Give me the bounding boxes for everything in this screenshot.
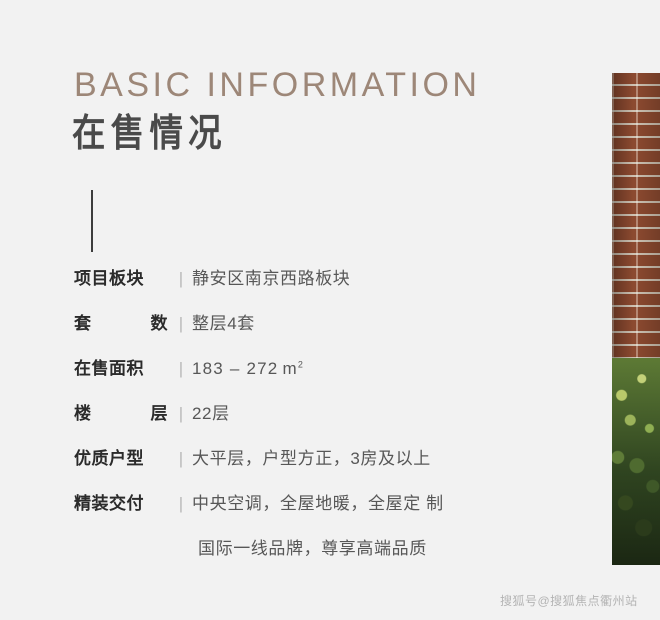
- row-label-char: 套: [74, 311, 92, 337]
- page-title-english: BASIC INFORMATION: [74, 68, 480, 104]
- page-root: BASIC INFORMATION 在售情况 项目板块 | 静安区南京西路板块 …: [0, 0, 660, 620]
- table-row: 优质户型 | 大平层，户型方正，3房及以上: [74, 446, 544, 491]
- row-label: 精装交付: [74, 491, 170, 517]
- row-value-number: 183 – 272: [192, 359, 278, 378]
- row-value-line-2: 国际一线品牌，尊享高端品质: [192, 536, 544, 562]
- row-label: 优质户型: [74, 446, 170, 472]
- row-separator: |: [170, 266, 192, 292]
- foliage-shrub: [612, 358, 660, 565]
- unit-base: m: [282, 359, 297, 378]
- unit-square-meter: m2: [282, 356, 304, 382]
- row-value: 整层4套: [192, 311, 544, 337]
- row-label: 套 数: [74, 311, 170, 337]
- brick-wall-shading: [612, 73, 660, 398]
- unit-exponent: 2: [298, 359, 304, 369]
- row-label: 在售面积: [74, 356, 170, 382]
- watermark-text: 搜狐号@搜狐焦点衢州站: [500, 592, 638, 610]
- building-photo: [612, 73, 660, 565]
- accent-divider-rule: [91, 190, 93, 252]
- row-label: 项目板块: [74, 266, 170, 292]
- row-value-line-1: 中央空调，全屋地暖，全屋定 制: [192, 491, 544, 517]
- row-separator: |: [170, 311, 192, 337]
- row-value: 中央空调，全屋地暖，全屋定 制 国际一线品牌，尊享高端品质: [192, 491, 544, 562]
- row-label-char: 数: [151, 311, 169, 337]
- row-label-char: 楼: [74, 401, 92, 427]
- row-separator: |: [170, 446, 192, 472]
- table-row: 在售面积 | 183 – 272m2: [74, 356, 544, 401]
- row-separator: |: [170, 491, 192, 517]
- row-value: 22层: [192, 401, 544, 427]
- page-title-chinese: 在售情况: [72, 113, 227, 157]
- table-row: 套 数 | 整层4套: [74, 311, 544, 356]
- basic-information-table: 项目板块 | 静安区南京西路板块 套 数 | 整层4套 在售面积 | 183 –…: [74, 266, 544, 562]
- table-row: 项目板块 | 静安区南京西路板块: [74, 266, 544, 311]
- row-separator: |: [170, 401, 192, 427]
- row-separator: |: [170, 356, 192, 382]
- table-row: 精装交付 | 中央空调，全屋地暖，全屋定 制 国际一线品牌，尊享高端品质: [74, 491, 544, 562]
- table-row: 楼 层 | 22层: [74, 401, 544, 446]
- row-label: 楼 层: [74, 401, 170, 427]
- row-value: 183 – 272m2: [192, 356, 544, 382]
- row-label-char: 层: [151, 401, 169, 427]
- row-value: 大平层，户型方正，3房及以上: [192, 446, 544, 472]
- row-value: 静安区南京西路板块: [192, 266, 544, 292]
